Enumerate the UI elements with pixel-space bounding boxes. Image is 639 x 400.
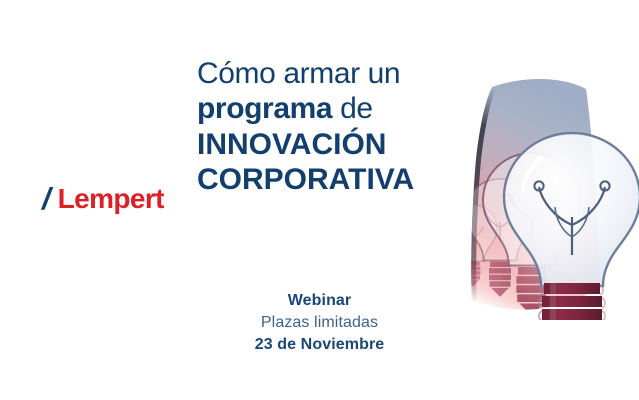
poster-canvas: / Lempert Cómo armar un programa de INNO… [0,0,639,400]
logo-slash-icon: / [42,183,51,214]
brand-logo: / Lempert [42,182,164,213]
footer-block: Webinar Plazas limitadas 23 de Noviembre [197,290,442,356]
headline-line-2: programa de [197,91,442,126]
headline-line-2-rest: de [332,92,373,125]
headline-block: Cómo armar un programa de INNOVACIÓN COR… [197,56,442,198]
headline-line-2-bold: programa [197,92,332,125]
logo-wordmark: Lempert [58,185,164,213]
lightbulbs-artwork [410,55,639,320]
headline-line-4: CORPORATIVA [197,162,442,197]
footer-date-label: 23 de Noviembre [197,334,442,356]
footer-webinar-label: Webinar [197,290,442,312]
headline-line-3: INNOVACIÓN [197,127,442,162]
headline-line-1: Cómo armar un [197,56,442,91]
footer-seats-label: Plazas limitadas [197,312,442,334]
